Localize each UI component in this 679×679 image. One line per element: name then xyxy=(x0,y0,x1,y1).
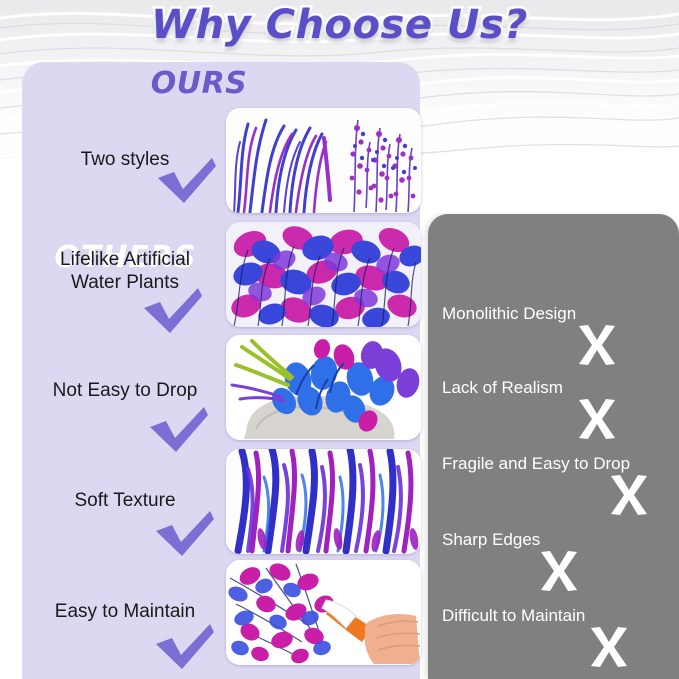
ours-feature-row: Easy to Maintain xyxy=(22,560,420,673)
ours-item-image-2 xyxy=(226,222,421,327)
infographic-canvas: Why Choose Us? OURS OTHERS Two styles xyxy=(0,0,679,679)
ours-feature-row: Soft Texture xyxy=(22,449,420,562)
ours-item-label-4: Soft Texture xyxy=(30,489,220,512)
ours-heading: OURS xyxy=(0,66,398,101)
check-icon xyxy=(142,288,204,334)
others-feature-row: Fragile and Easy to Drop xyxy=(428,446,679,522)
ours-feature-row: Two styles xyxy=(22,108,420,221)
check-icon xyxy=(156,158,218,204)
others-item-label-2: Lack of Realism xyxy=(442,378,563,398)
others-feature-row: Lack of Realism xyxy=(428,370,679,446)
others-item-label-1: Monolithic Design xyxy=(442,304,576,324)
ours-item-image-1 xyxy=(226,108,421,213)
others-feature-row: Difficult to Maintain xyxy=(428,598,679,674)
x-icon xyxy=(588,626,630,668)
x-icon xyxy=(576,324,618,366)
others-item-label-3: Fragile and Easy to Drop xyxy=(442,454,630,474)
check-icon xyxy=(154,624,216,670)
check-icon xyxy=(154,511,216,557)
ours-item-image-5 xyxy=(226,560,421,665)
x-icon xyxy=(576,398,618,440)
others-feature-row: Sharp Edges xyxy=(428,522,679,598)
others-item-label-5: Difficult to Maintain xyxy=(442,606,585,626)
ours-item-label-2-line1: Lifelike Artificial xyxy=(60,249,190,270)
x-icon xyxy=(538,550,580,592)
others-feature-row: Monolithic Design xyxy=(428,296,679,372)
ours-item-label-5: Easy to Maintain xyxy=(30,600,220,623)
check-icon xyxy=(148,407,210,453)
ours-item-image-3 xyxy=(226,335,421,440)
ours-feature-row: Not Easy to Drop xyxy=(22,335,420,448)
others-item-label-4: Sharp Edges xyxy=(442,530,540,550)
page-title: Why Choose Us? xyxy=(0,2,679,48)
ours-feature-row: Lifelike Artificial Water Plants xyxy=(22,222,420,335)
ours-item-image-4 xyxy=(226,449,421,554)
x-icon xyxy=(608,474,650,516)
page-title-text: Why Choose Us? xyxy=(151,2,528,48)
ours-item-label-3: Not Easy to Drop xyxy=(30,379,220,402)
